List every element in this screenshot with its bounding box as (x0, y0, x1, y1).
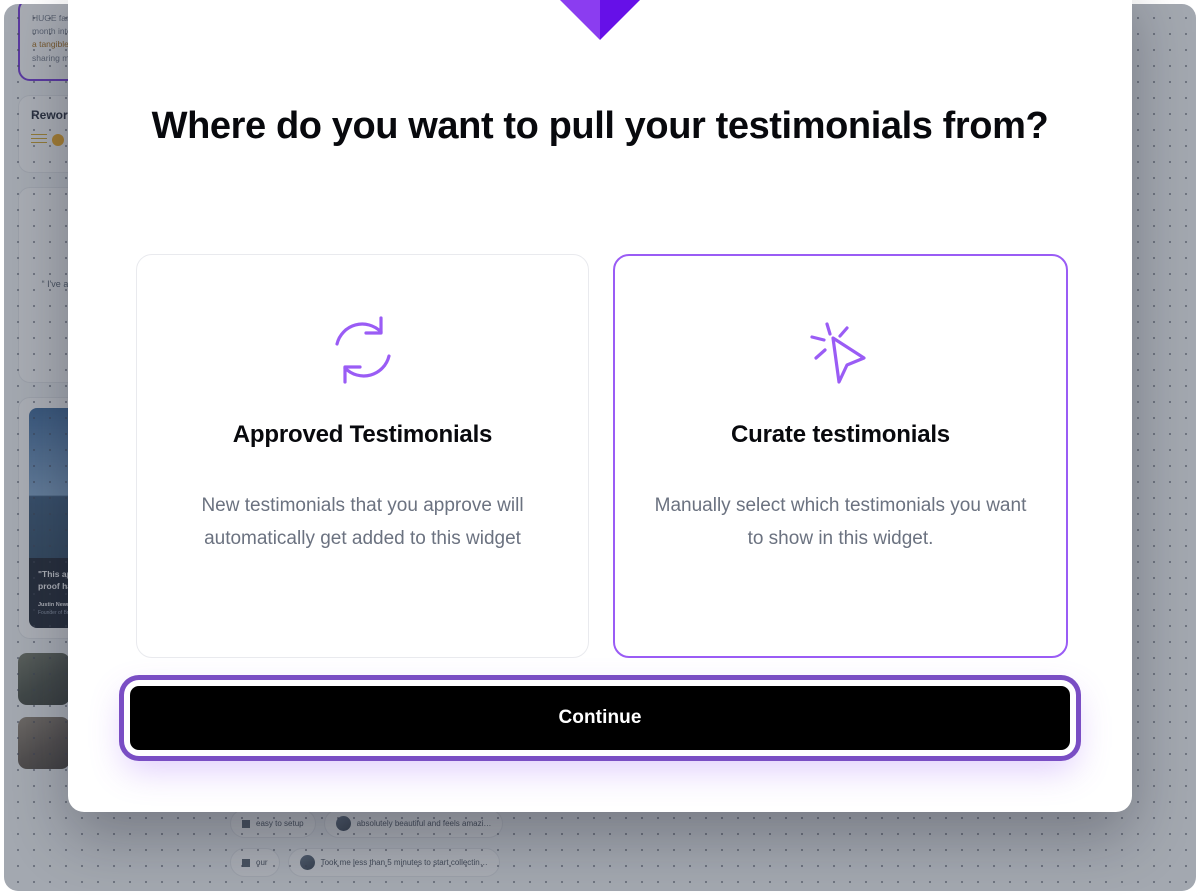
refresh-sync-icon (325, 307, 401, 393)
page-title: Where do you want to pull your testimoni… (132, 98, 1068, 155)
cursor-click-sparkle-icon (803, 307, 879, 393)
option-description: New testimonials that you approve will a… (173, 489, 553, 556)
option-description: Manually select which testimonials you w… (651, 489, 1031, 556)
source-options: Approved Testimonials New testimonials t… (136, 254, 1068, 658)
option-card-approved-testimonials[interactable]: Approved Testimonials New testimonials t… (136, 254, 589, 658)
option-title: Approved Testimonials (233, 421, 492, 449)
app-root: HUGE fan of this app. Barely a month int… (0, 0, 1200, 895)
continue-button[interactable]: Continue (130, 686, 1070, 750)
source-selection-modal: Where do you want to pull your testimoni… (68, 0, 1132, 812)
option-title: Curate testimonials (731, 421, 950, 449)
triangle-down-icon (560, 0, 640, 40)
continue-button-area: Continue (124, 680, 1076, 756)
option-card-curate-testimonials[interactable]: Curate testimonials Manually select whic… (613, 254, 1068, 658)
